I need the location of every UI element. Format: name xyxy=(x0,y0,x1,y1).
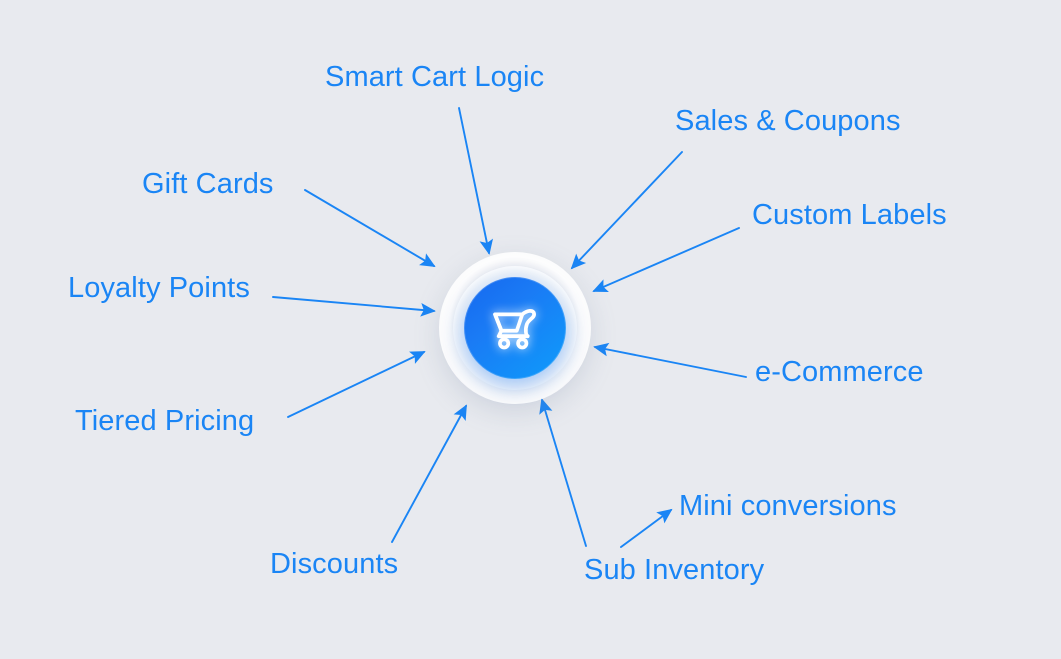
hub-disc[interactable] xyxy=(464,277,566,379)
node-label-mini-conversions[interactable]: Mini conversions xyxy=(679,492,897,521)
connector-arrow-loyalty-points xyxy=(273,297,434,311)
node-label-sub-inventory[interactable]: Sub Inventory xyxy=(584,556,764,585)
connector-arrow-sales-and-coupons xyxy=(572,152,682,268)
node-label-sales-and-coupons[interactable]: Sales & Coupons xyxy=(675,107,901,136)
hub-and-spoke-diagram: Smart Cart LogicSales & CouponsGift Card… xyxy=(0,0,1061,659)
connector-arrow-mini-conversions xyxy=(621,510,671,547)
node-label-smart-cart-logic[interactable]: Smart Cart Logic xyxy=(325,63,544,92)
connector-arrow-tiered-pricing xyxy=(288,352,424,417)
shopping-cart-icon xyxy=(486,299,544,357)
node-label-tiered-pricing[interactable]: Tiered Pricing xyxy=(75,407,254,436)
node-label-loyalty-points[interactable]: Loyalty Points xyxy=(68,274,250,303)
connector-arrow-gift-cards xyxy=(305,190,434,266)
connector-arrow-smart-cart-logic xyxy=(459,108,489,253)
node-label-gift-cards[interactable]: Gift Cards xyxy=(142,170,274,199)
node-label-custom-labels[interactable]: Custom Labels xyxy=(752,201,947,230)
node-label-e-commerce[interactable]: e-Commerce xyxy=(755,358,924,387)
connector-arrow-e-commerce xyxy=(595,347,746,377)
node-label-discounts[interactable]: Discounts xyxy=(270,550,398,579)
connector-arrow-sub-inventory xyxy=(542,400,586,546)
connector-arrow-discounts xyxy=(392,406,466,542)
connector-arrow-custom-labels xyxy=(594,228,739,291)
